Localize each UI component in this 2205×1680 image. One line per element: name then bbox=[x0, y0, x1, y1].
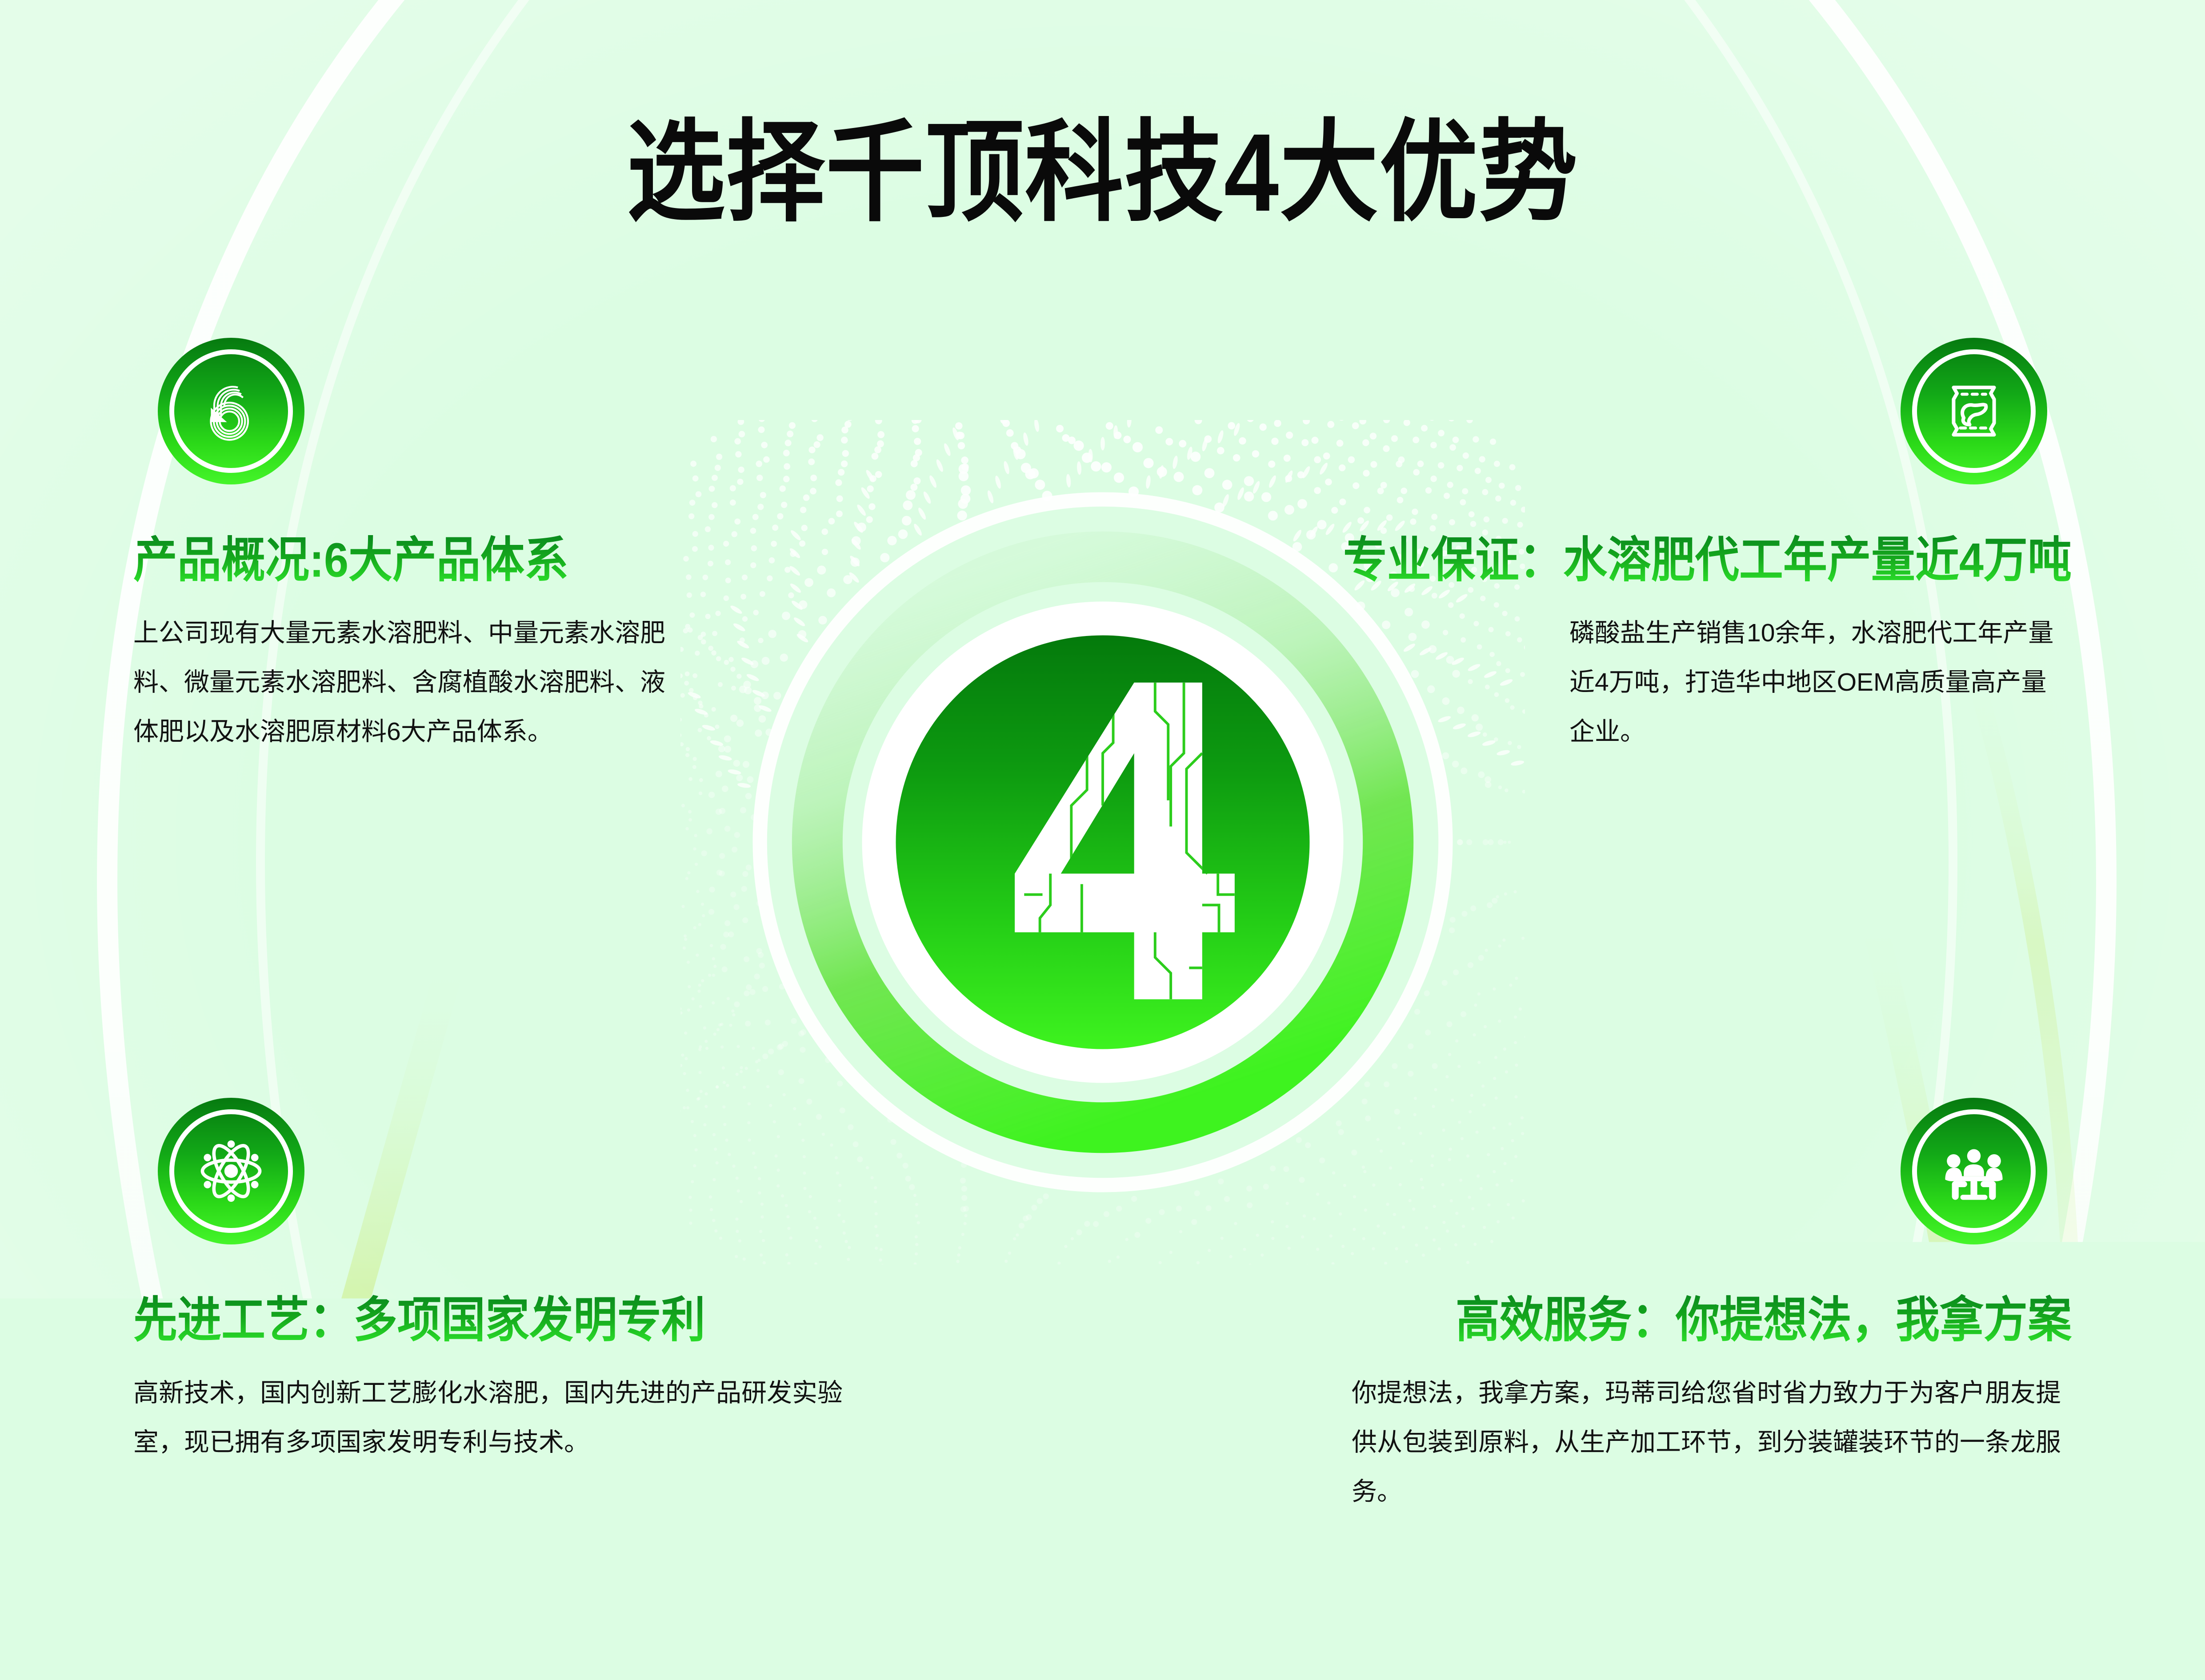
number-six-icon-svg bbox=[189, 369, 273, 453]
block-heading: 高效服务：你提想法，我拿方案 bbox=[1456, 1294, 2072, 1347]
fertilizer-bag-icon bbox=[1901, 338, 2047, 484]
block-heading: 先进工艺：多项国家发明专利 bbox=[133, 1294, 889, 1347]
atom-icon-svg bbox=[189, 1129, 273, 1213]
advantage-block-top-right: 专业保证：水溶肥代工年产量近4万吨 磷酸盐生产销售10余年，水溶肥代工年产量近4… bbox=[1196, 338, 2072, 756]
number-six-icon bbox=[158, 338, 304, 484]
block-heading: 专业保证：水溶肥代工年产量近4万吨 bbox=[1343, 534, 2072, 587]
fertilizer-bag-icon-svg bbox=[1932, 369, 2016, 453]
meeting-people-icon-svg bbox=[1932, 1129, 2016, 1213]
advantage-block-bottom-left: 先进工艺：多项国家发明专利 高新技术，国内创新工艺膨化水溶肥，国内先进的产品研发… bbox=[133, 1098, 889, 1467]
advantage-block-bottom-right: 高效服务：你提想法，我拿方案 你提想法，我拿方案，玛蒂司给您省时省力致力于为客户… bbox=[1289, 1098, 2072, 1516]
block-body: 高新技术，国内创新工艺膨化水溶肥，国内先进的产品研发实验室，现已拥有多项国家发明… bbox=[133, 1368, 889, 1467]
block-body: 磷酸盐生产销售10余年，水溶肥代工年产量近4万吨，打造华中地区OEM高质量高产量… bbox=[1569, 608, 2072, 756]
meeting-people-icon bbox=[1901, 1098, 2047, 1244]
page-title: 选择千顶科技4大优势 bbox=[0, 82, 2205, 243]
atom-icon bbox=[158, 1098, 304, 1244]
block-body: 你提想法，我拿方案，玛蒂司给您省时省力致力于为客户朋友提供从包装到原料，从生产加… bbox=[1352, 1368, 2072, 1516]
block-body: 上公司现有大量元素水溶肥料、中量元素水溶肥料、微量元素水溶肥料、含腐植酸水溶肥料… bbox=[133, 608, 687, 756]
block-heading: 产品概况:6大产品体系 bbox=[133, 534, 711, 587]
advantage-block-top-left: 产品概况:6大产品体系 上公司现有大量元素水溶肥料、中量元素水溶肥料、微量元素水… bbox=[133, 338, 711, 756]
